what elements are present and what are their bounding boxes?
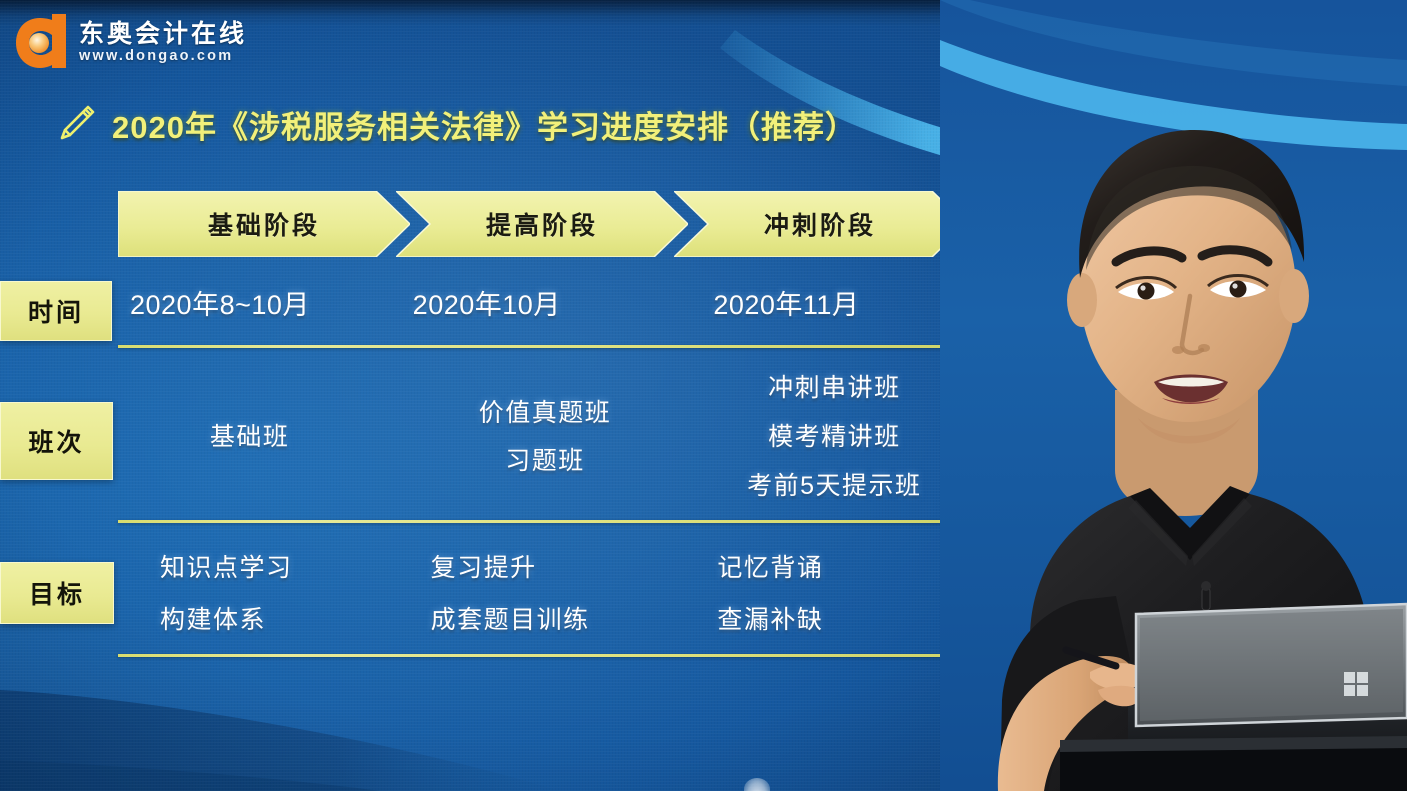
stage-arrow-basic[interactable]: 基础阶段 bbox=[118, 191, 410, 257]
page-title: 2020年《涉税服务相关法律》学习进度安排（推荐） bbox=[112, 102, 857, 147]
row-divider bbox=[118, 345, 963, 348]
cell-text: 习题班 bbox=[505, 445, 585, 478]
row-divider bbox=[118, 520, 963, 523]
brand-logo: 东奥会计在线 www.dongao.com bbox=[14, 12, 247, 70]
brand-url: www.dongao.com bbox=[79, 49, 247, 64]
cell-text: 知识点学习 bbox=[160, 552, 293, 585]
table-cell: 知识点学习 构建体系 bbox=[118, 538, 409, 650]
cell-text: 复习提升 bbox=[431, 552, 537, 585]
stage-arrow-label: 基础阶段 bbox=[118, 206, 410, 242]
stage-arrow-label: 冲刺阶段 bbox=[674, 206, 966, 242]
slide-title-bar: 2020年《涉税服务相关法律》学习进度安排（推荐） bbox=[52, 100, 857, 148]
cell-text: 2020年11月 bbox=[713, 283, 859, 322]
cell-text: 考前5天提示班 bbox=[747, 470, 921, 503]
row-divider bbox=[118, 654, 963, 657]
stage-arrow-sprint[interactable]: 冲刺阶段 bbox=[674, 191, 966, 257]
cell-text: 模考精讲班 bbox=[768, 421, 901, 454]
table-cell: 基础班 bbox=[118, 360, 403, 515]
table-cell: 价值真题班 习题班 bbox=[403, 360, 676, 515]
table-cell: 复习提升 成套题目训练 bbox=[409, 538, 680, 650]
slide-stage: 东奥会计在线 www.dongao.com 2020年《涉税服务相关法律》学习进… bbox=[0, 0, 1407, 791]
table-cell: 2020年10月 bbox=[383, 283, 666, 339]
stage-arrow-label: 提高阶段 bbox=[396, 206, 688, 242]
stage-arrow-improve[interactable]: 提高阶段 bbox=[396, 191, 688, 257]
cell-text: 冲刺串讲班 bbox=[768, 372, 901, 405]
table-cell: 冲刺串讲班 模考精讲班 考前5天提示班 bbox=[677, 360, 966, 515]
presenter-video-area bbox=[940, 0, 1407, 791]
stage-arrow-band: 基础阶段 提高阶段 bbox=[118, 191, 966, 257]
table-row-class: 基础班 价值真题班 习题班 冲刺串讲班 模考精讲班 考前5天提示班 bbox=[118, 360, 966, 515]
cell-text: 构建体系 bbox=[160, 604, 266, 637]
brand-name: 东奥会计在线 bbox=[79, 22, 247, 47]
pencil-icon bbox=[52, 100, 100, 148]
row-label-goal: 目标 bbox=[0, 562, 114, 624]
table-row-goal: 知识点学习 构建体系 复习提升 成套题目训练 记忆背诵 查漏补缺 bbox=[118, 538, 966, 650]
cell-text: 记忆背诵 bbox=[717, 552, 823, 585]
brand-wordmark: 东奥会计在线 www.dongao.com bbox=[79, 19, 247, 64]
row-label-class: 班次 bbox=[0, 402, 113, 480]
table-cell: 2020年8~10月 bbox=[118, 283, 383, 339]
cell-text: 价值真题班 bbox=[479, 397, 612, 430]
table-cell: 记忆背诵 查漏补缺 bbox=[679, 538, 966, 650]
cell-text: 2020年8~10月 bbox=[130, 283, 310, 322]
cell-text: 查漏补缺 bbox=[717, 604, 823, 637]
row-label-time: 时间 bbox=[0, 281, 112, 341]
table-cell: 2020年11月 bbox=[665, 283, 966, 339]
dongao-d-logo-icon bbox=[14, 12, 70, 70]
cell-text: 基础班 bbox=[210, 421, 290, 454]
table-row-time: 2020年8~10月 2020年10月 2020年11月 bbox=[118, 283, 966, 339]
cell-text: 成套题目训练 bbox=[431, 604, 590, 637]
cell-text: 2020年10月 bbox=[413, 283, 561, 322]
